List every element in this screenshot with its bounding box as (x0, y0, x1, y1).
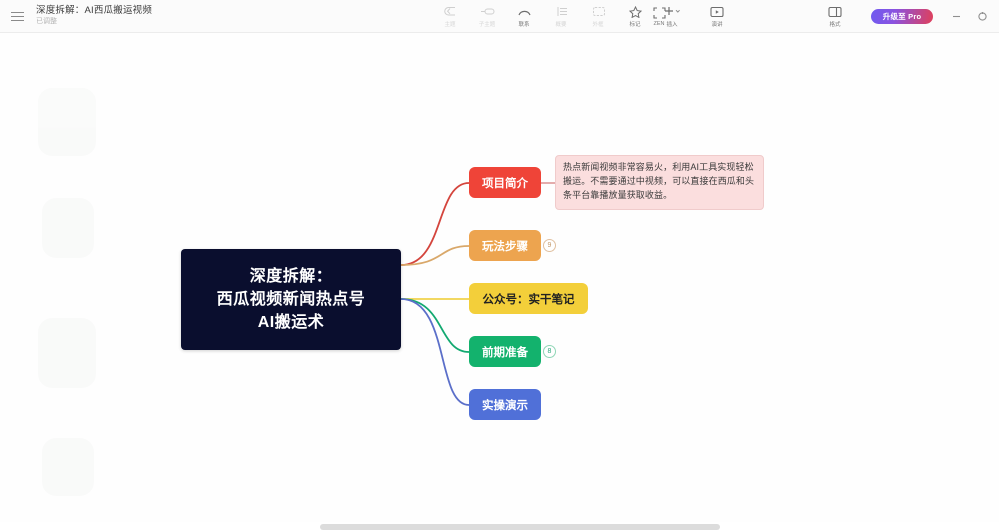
hamburger-menu-icon[interactable] (2, 0, 32, 33)
boundary-icon (592, 5, 606, 18)
branch-node-prep[interactable]: 前期准备 (469, 336, 541, 367)
summary-icon (555, 5, 569, 18)
toolbar-item-topic-label: 主题 (445, 19, 456, 27)
toolbar-item-relation[interactable]: 联系 (506, 0, 543, 33)
branch-connectors (0, 33, 999, 531)
collapse-badge-steps[interactable]: 9 (543, 239, 556, 252)
toolbar-item-relation-label: 联系 (519, 19, 530, 27)
branch-node-intro[interactable]: 项目简介 (469, 167, 541, 198)
horizontal-scrollbar-track[interactable] (0, 522, 999, 531)
central-topic-node[interactable]: 深度拆解： 西瓜视频新闻热点号 AI搬运术 (181, 249, 401, 350)
toolbar-item-topic[interactable]: 主题 (432, 0, 469, 33)
title-bar: 深度拆解：AI西瓜搬运视频 已调整 主题 子主题 联系 概要 (0, 0, 999, 33)
toolbar-item-boundary[interactable]: 外框 (580, 0, 617, 33)
branch-node-wechat[interactable]: 公众号：实干笔记 (469, 283, 588, 314)
branch-node-steps[interactable]: 玩法步骤 (469, 230, 541, 261)
toolbar-item-zen[interactable]: ZEN (639, 0, 679, 33)
toolbar-item-summary-label: 概要 (556, 19, 567, 27)
collapse-badge-prep[interactable]: 8 (543, 345, 556, 358)
toolbar-item-subtopic[interactable]: 子主题 (469, 0, 506, 33)
note-callout[interactable]: 热点新闻视频非常容易火，利用AI工具实现轻松搬运。不需要通过中视频，可以直接在西… (555, 155, 764, 210)
toolbar-item-present-label: 演讲 (711, 19, 722, 27)
toolbar-item-format[interactable]: 格式 (815, 0, 855, 33)
document-status: 已调整 (36, 18, 152, 25)
topic-icon (444, 5, 457, 18)
toolbar-item-format-label: 格式 (829, 19, 840, 27)
upgrade-pro-button[interactable]: 升级至 Pro (871, 9, 933, 24)
format-icon (828, 5, 842, 18)
subtopic-icon (480, 5, 495, 18)
document-meta: 深度拆解：AI西瓜搬运视频 已调整 (36, 6, 152, 25)
toolbar-item-summary[interactable]: 概要 (543, 0, 580, 33)
toolbar-item-zen-label: ZEN (653, 21, 664, 27)
toolbar-item-present[interactable]: 演讲 (697, 0, 737, 33)
branch-node-demo[interactable]: 实操演示 (469, 389, 541, 420)
mindmap-canvas[interactable]: 深度拆解： 西瓜视频新闻热点号 AI搬运术 项目简介 玩法步骤 公众号：实干笔记… (0, 33, 999, 531)
zen-icon (653, 7, 666, 20)
document-title[interactable]: 深度拆解：AI西瓜搬运视频 (36, 6, 152, 16)
toolbar-item-boundary-label: 外框 (593, 19, 604, 27)
play-icon (710, 5, 724, 18)
relation-icon (517, 5, 532, 18)
right-toolbar: ZEN 演讲 格式 升级至 Pro (639, 0, 999, 33)
toolbar-item-subtopic-label: 子主题 (479, 19, 496, 27)
horizontal-scrollbar-thumb[interactable] (320, 524, 720, 530)
window-minimize-button[interactable] (943, 0, 969, 33)
window-close-button[interactable] (969, 0, 995, 33)
